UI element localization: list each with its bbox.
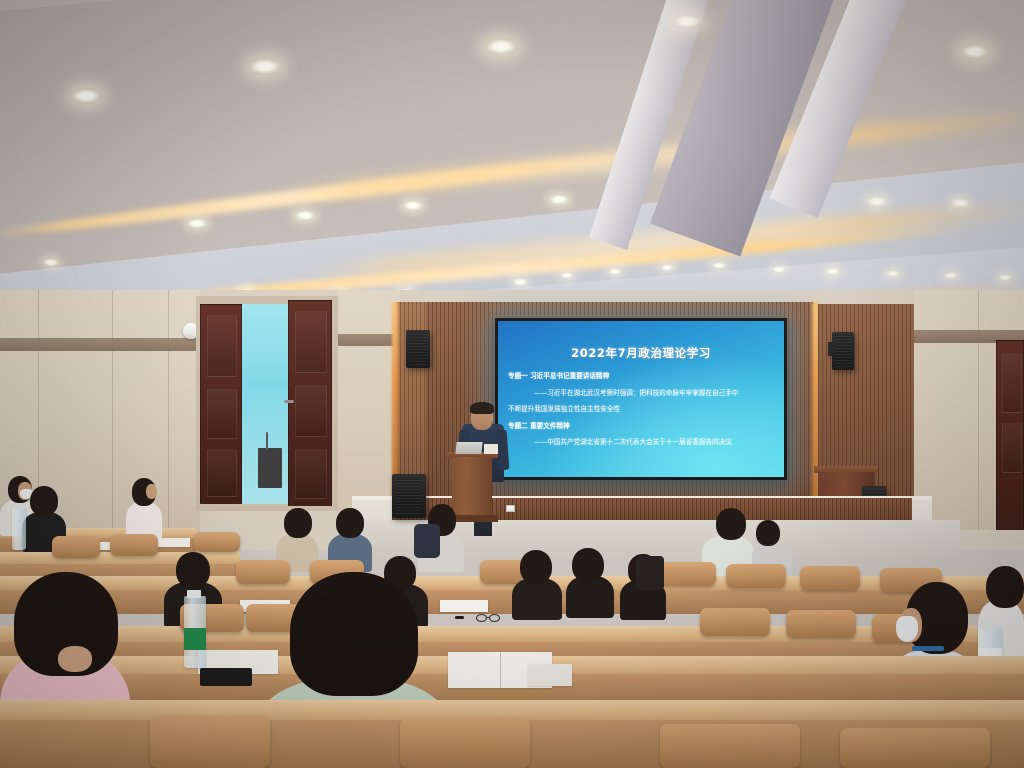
ceiling-downlight	[294, 210, 316, 221]
chair-back-front	[400, 718, 530, 768]
chair-back	[800, 566, 860, 590]
door-right-rear[interactable]	[996, 340, 1024, 530]
audience-head	[756, 520, 780, 546]
ceiling-downlight	[826, 268, 840, 275]
audience-head	[520, 550, 552, 584]
bottle-label	[184, 628, 206, 650]
reflected-mic-icon	[266, 432, 268, 450]
bottle-cap	[982, 622, 997, 631]
slide-line: 专题二 重要文件精神	[508, 423, 776, 430]
notebook-spine	[500, 652, 501, 688]
door-inset	[295, 311, 327, 373]
chair-back	[52, 536, 100, 558]
slide-body: 专题一 习近平总书记重要讲话精神 ——习近平在湖北武汉考察时强调：把科技的命脉牢…	[508, 373, 776, 456]
wall-accent-band-left	[0, 338, 200, 351]
slide-title: 2022年7月政治理论学习	[498, 345, 784, 361]
ceiling	[0, 0, 1024, 330]
ceiling-downlight	[772, 266, 786, 273]
backpack	[414, 524, 440, 558]
audience-face	[146, 484, 157, 499]
chair-back-front	[660, 724, 800, 768]
slide-line: ——中国共产党湖北省第十二次代表大会关于十一届省委报告的决议	[508, 439, 776, 446]
door-handle-icon[interactable]	[284, 400, 294, 403]
audience-head	[30, 486, 58, 516]
door-inset	[1002, 353, 1022, 413]
ceiling-downlight	[712, 262, 726, 269]
podium	[452, 457, 492, 519]
ceiling-downlight	[944, 272, 958, 279]
ceiling-downlight	[42, 258, 60, 267]
ceiling-downlight	[484, 38, 518, 55]
ceiling-downlight	[886, 270, 900, 277]
tablet-on-desk	[200, 668, 252, 686]
lanyard	[912, 646, 944, 651]
wall-seam	[112, 290, 113, 550]
notebook-on-desk	[156, 538, 190, 547]
ceiling-downlight	[960, 44, 990, 59]
wall-seam	[978, 290, 979, 530]
ceiling-downlight	[548, 194, 570, 205]
chair-back	[700, 608, 770, 636]
chair-back	[656, 562, 716, 586]
projection-screen: 2022年7月政治理论学习 专题一 习近平总书记重要讲话精神 ——习近平在湖北武…	[495, 318, 787, 480]
audience-head	[572, 548, 604, 582]
ceiling-downlight	[672, 14, 702, 29]
audience-body	[512, 578, 562, 620]
door-inset	[295, 385, 327, 437]
ceiling-downlight	[998, 274, 1012, 281]
door-leaf-right[interactable]	[288, 300, 332, 506]
chair-back	[236, 560, 290, 584]
bottle-cap	[14, 504, 24, 510]
ceiling-downlight	[70, 88, 102, 104]
podium-papers	[484, 444, 498, 454]
paper-sheet	[528, 664, 572, 686]
ceiling-downlight	[660, 264, 674, 271]
ceiling-downlight	[248, 58, 282, 75]
door-inset	[1002, 423, 1022, 473]
slide-line: ——习近平在湖北武汉考察时强调：把科技的命脉牢牢掌握在自己手中	[508, 390, 776, 397]
ceiling-downlight	[950, 198, 970, 208]
chair-back	[786, 610, 856, 638]
ceiling-downlight	[512, 278, 528, 286]
wall-speaker-left	[406, 330, 430, 368]
wall-accent-band-left-2	[338, 334, 400, 346]
door-inset	[207, 389, 237, 439]
ceiling-downlight	[560, 272, 574, 279]
audience-head	[176, 552, 210, 588]
slide-line: 专题一 习近平总书记重要讲话精神	[508, 373, 776, 380]
slide-line: 不断提升我国发展独立性自主性安全性	[508, 406, 776, 413]
audience-hand	[58, 646, 92, 672]
audience-head	[986, 566, 1024, 608]
wall-accent-glow-left	[392, 302, 398, 498]
ceiling-downlight	[608, 268, 622, 275]
stage-outlet-icon	[506, 505, 515, 512]
presenter-hair	[470, 402, 494, 414]
face-mask	[896, 616, 918, 642]
lecture-hall-photo: 2022年7月政治理论学习 专题一 习近平总书记重要讲话精神 ——习近平在湖北武…	[0, 0, 1024, 768]
floor-speaker-left	[392, 474, 426, 518]
handbag	[636, 556, 664, 590]
chair-back-front	[150, 716, 270, 768]
door-leaf-left[interactable]	[200, 304, 242, 504]
eyeglasses-icon	[489, 614, 500, 622]
bottle-cap	[187, 590, 201, 598]
podium-laptop	[455, 442, 482, 454]
eyeglasses-bridge	[487, 617, 490, 618]
notebook-on-desk	[440, 600, 488, 612]
reflected-lectern	[258, 448, 282, 488]
wall-seam	[168, 290, 169, 550]
wall-speaker-right	[832, 332, 854, 370]
water-bottle	[12, 508, 26, 550]
chair-back-front	[840, 728, 990, 768]
pen-on-desk	[455, 616, 464, 619]
chair-back	[110, 534, 158, 556]
audience-head	[336, 508, 364, 538]
ceiling-downlight	[866, 196, 888, 207]
audience-head	[290, 572, 418, 696]
ceiling-downlight	[402, 200, 424, 211]
projection-screen-surface: 2022年7月政治理论学习 专题一 习近平总书记重要讲话精神 ——习近平在湖北武…	[498, 321, 784, 477]
eyeglasses-icon	[476, 614, 487, 622]
door-inset	[295, 449, 327, 499]
chair-back	[726, 564, 786, 588]
audience-body	[566, 576, 614, 618]
door-inset	[207, 315, 237, 377]
door-inset	[207, 449, 237, 497]
chair-back	[194, 532, 240, 552]
audience-head	[716, 508, 746, 540]
ceiling-downlight	[186, 218, 208, 229]
audience-head	[284, 508, 312, 538]
